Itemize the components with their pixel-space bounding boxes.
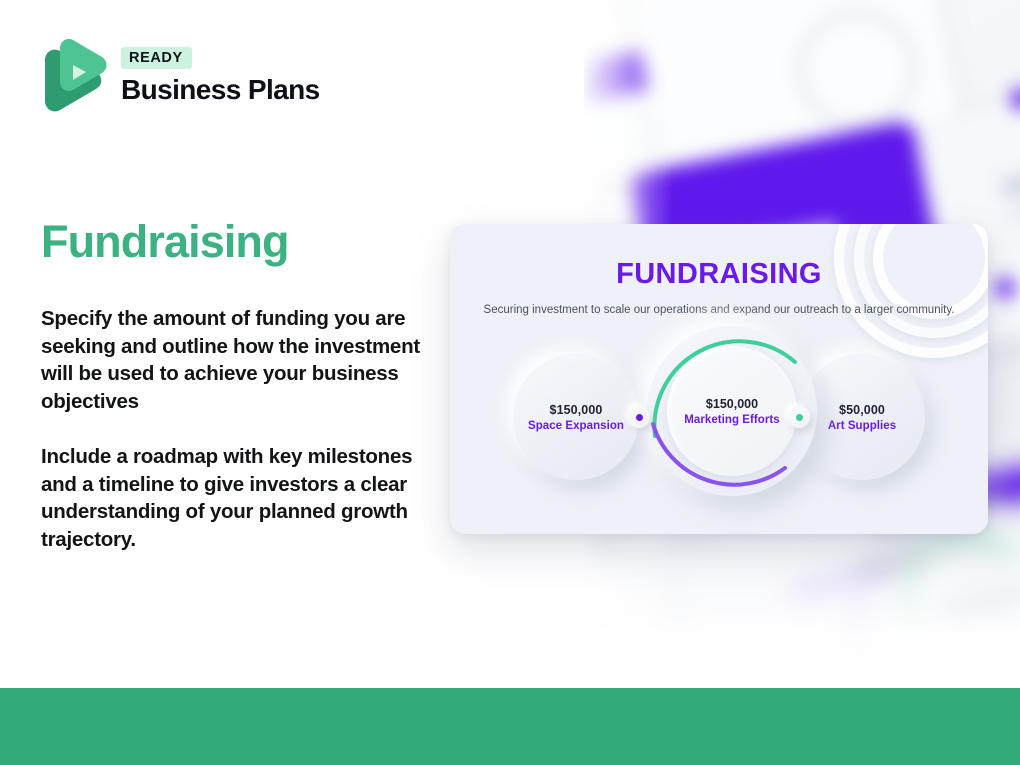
body-copy: Specify the amount of funding you are se… [41, 305, 433, 553]
connector-node-purple [628, 406, 650, 428]
corner-rings-decor [810, 224, 988, 358]
paragraph-1: Specify the amount of funding you are se… [41, 305, 433, 415]
page-title: Fundraising [41, 216, 289, 268]
slide-title: FUNDRAISING [450, 258, 988, 291]
arc-green [654, 341, 795, 436]
play-triangle-logo-icon [41, 38, 107, 114]
footer-bar [0, 688, 1020, 765]
paragraph-2: Include a roadmap with key milestones an… [41, 443, 433, 553]
funding-category: Art Supplies [828, 420, 896, 432]
connector-node-green [788, 406, 810, 428]
funding-category: Space Expansion [528, 420, 624, 432]
funding-amount: $150,000 [550, 403, 603, 417]
funding-diagram: $150,000 Space Expansion $50,000 Art Sup… [450, 342, 988, 517]
brand-logo: READY Business Plans [41, 38, 320, 114]
slide-preview-card[interactable]: FUNDRAISING Securing investment to scale… [450, 224, 988, 534]
brand-name: Business Plans [121, 74, 320, 106]
left-white-panel-lower [0, 590, 584, 690]
funding-amount: $50,000 [839, 403, 885, 417]
ready-badge: READY [121, 47, 192, 69]
brand-wordmark: READY Business Plans [121, 47, 320, 106]
arc-purple [653, 424, 785, 485]
funding-node-left[interactable]: $150,000 Space Expansion [513, 354, 639, 480]
slide-page: READY Business Plans Fundraising Specify… [0, 0, 1020, 765]
